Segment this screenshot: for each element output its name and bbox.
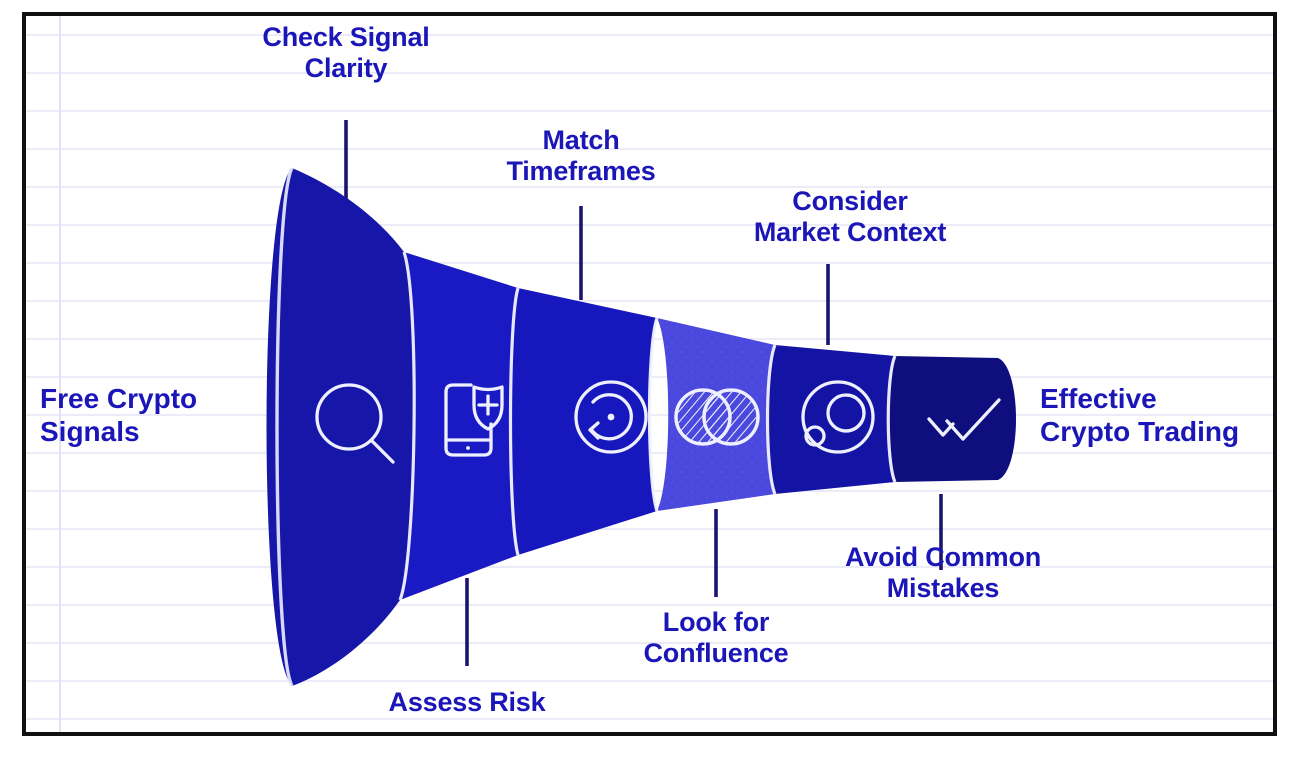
stage-label-3: Match Timeframes xyxy=(431,125,731,187)
input-label: Free Crypto Signals xyxy=(40,382,240,448)
stage-label-6: Avoid Common Mistakes xyxy=(773,542,1113,604)
infographic-canvas: Free Crypto Signals Effective Crypto Tra… xyxy=(0,0,1301,759)
stage-label-4: Look for Confluence xyxy=(566,607,866,669)
funnel-segment-5 xyxy=(768,345,896,494)
funnel-segment-1 xyxy=(267,168,415,686)
venn-overlap-icon xyxy=(676,390,758,444)
funnel-segment-2 xyxy=(400,252,518,600)
funnel-segment-6 xyxy=(888,356,1016,482)
stage-label-2: Assess Risk xyxy=(317,687,617,718)
output-label: Effective Crypto Trading xyxy=(1040,382,1270,448)
stage-label-1: Check Signal Clarity xyxy=(196,22,496,84)
divider-3-4 xyxy=(650,318,658,511)
funnel-segment-3 xyxy=(511,288,658,555)
stage-label-5: Consider Market Context xyxy=(680,186,1020,248)
